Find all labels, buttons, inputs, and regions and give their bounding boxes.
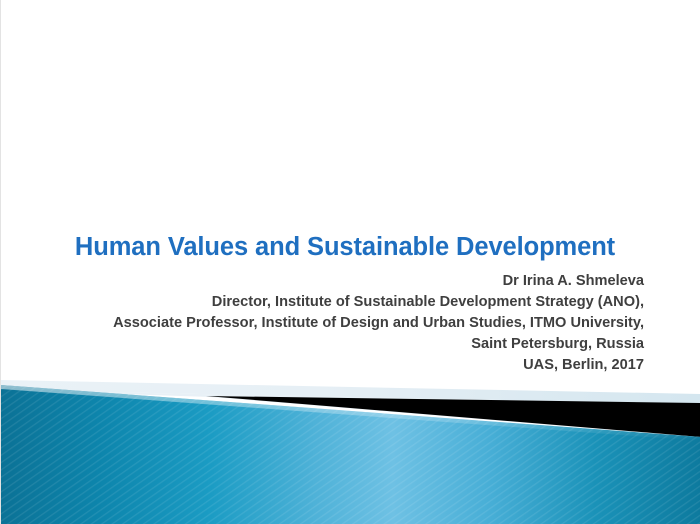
subtitle-line-role-director: Director, Institute of Sustainable Devel… (1, 292, 644, 313)
slide-text-block: Human Values and Sustainable Development… (1, 232, 700, 376)
slide-subtitle-block: Dr Irina A. Shmeleva Director, Institute… (1, 271, 700, 376)
decorative-bottom-band (1, 374, 700, 524)
presentation-slide: Human Values and Sustainable Development… (0, 0, 700, 524)
subtitle-line-role-professor: Associate Professor, Institute of Design… (1, 313, 644, 334)
subtitle-line-author: Dr Irina A. Shmeleva (1, 271, 644, 292)
subtitle-line-location: Saint Petersburg, Russia (1, 334, 644, 355)
slide-title: Human Values and Sustainable Development (1, 232, 700, 262)
subtitle-line-event: UAS, Berlin, 2017 (1, 355, 644, 376)
decorative-band-svg (1, 374, 700, 524)
